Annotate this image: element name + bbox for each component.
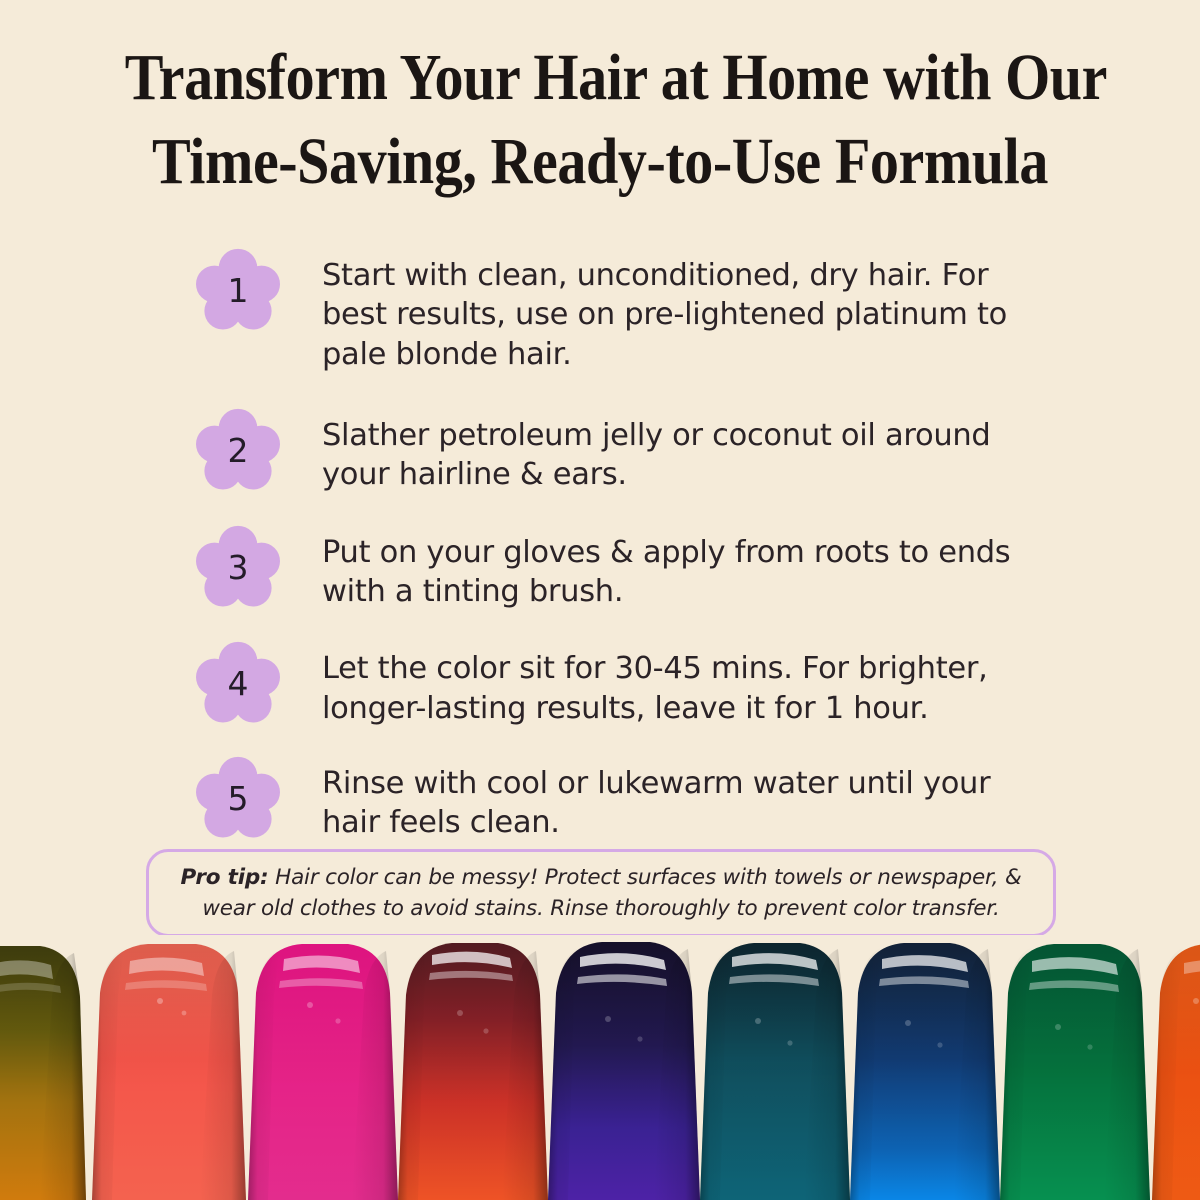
step-text: Rinse with cool or lukewarm water until … bbox=[322, 760, 1022, 843]
pro-tip-text: Hair color can be messy! Protect surface… bbox=[202, 865, 1021, 921]
step-number: 1 bbox=[196, 248, 280, 332]
step-number: 2 bbox=[196, 408, 280, 492]
steps-list: 1 Start with clean, unconditioned, dry h… bbox=[196, 252, 1080, 843]
step-text: Let the color sit for 30-45 mins. For br… bbox=[322, 645, 1022, 728]
step-text: Start with clean, unconditioned, dry hai… bbox=[322, 252, 1022, 374]
bottle-shapes bbox=[0, 942, 1200, 1200]
indigo-bottle bbox=[548, 942, 700, 1200]
flower-badge-icon: 4 bbox=[196, 641, 280, 725]
step-item: 4 Let the color sit for 30-45 mins. For … bbox=[196, 645, 1080, 728]
step-item: 1 Start with clean, unconditioned, dry h… bbox=[196, 252, 1080, 374]
blue-bottle bbox=[850, 943, 1000, 1200]
olive-bottle bbox=[0, 946, 86, 1200]
step-number: 5 bbox=[196, 756, 280, 840]
step-number: 3 bbox=[196, 525, 280, 609]
flower-badge-icon: 3 bbox=[196, 525, 280, 609]
pro-tip-label: Pro tip: bbox=[180, 865, 268, 890]
bottle-product-strip bbox=[0, 935, 1200, 1200]
title-line-2: Time-Saving, Ready-to-Use Formula bbox=[125, 120, 1075, 204]
step-item: 3 Put on your gloves & apply from roots … bbox=[196, 529, 1080, 612]
pro-tip-box: Pro tip: Hair color can be messy! Protec… bbox=[146, 849, 1056, 937]
dark-red-bottle bbox=[398, 943, 548, 1200]
teal-bottle bbox=[700, 943, 850, 1200]
coral-bottle bbox=[92, 944, 246, 1200]
step-item: 5 Rinse with cool or lukewarm water unti… bbox=[196, 760, 1080, 843]
step-text: Slather petroleum jelly or coconut oil a… bbox=[322, 412, 1022, 495]
infographic-page: Transform Your Hair at Home with Our Tim… bbox=[0, 0, 1200, 1200]
step-number: 4 bbox=[196, 641, 280, 725]
step-item: 2 Slather petroleum jelly or coconut oil… bbox=[196, 412, 1080, 495]
magenta-bottle bbox=[248, 944, 398, 1200]
step-text: Put on your gloves & apply from roots to… bbox=[322, 529, 1022, 612]
flower-badge-icon: 2 bbox=[196, 408, 280, 492]
flower-badge-icon: 1 bbox=[196, 248, 280, 332]
green-bottle bbox=[1000, 944, 1150, 1200]
page-title: Transform Your Hair at Home with Our Tim… bbox=[60, 36, 1140, 205]
flower-badge-icon: 5 bbox=[196, 756, 280, 840]
title-line-1: Transform Your Hair at Home with Our bbox=[125, 36, 1075, 120]
